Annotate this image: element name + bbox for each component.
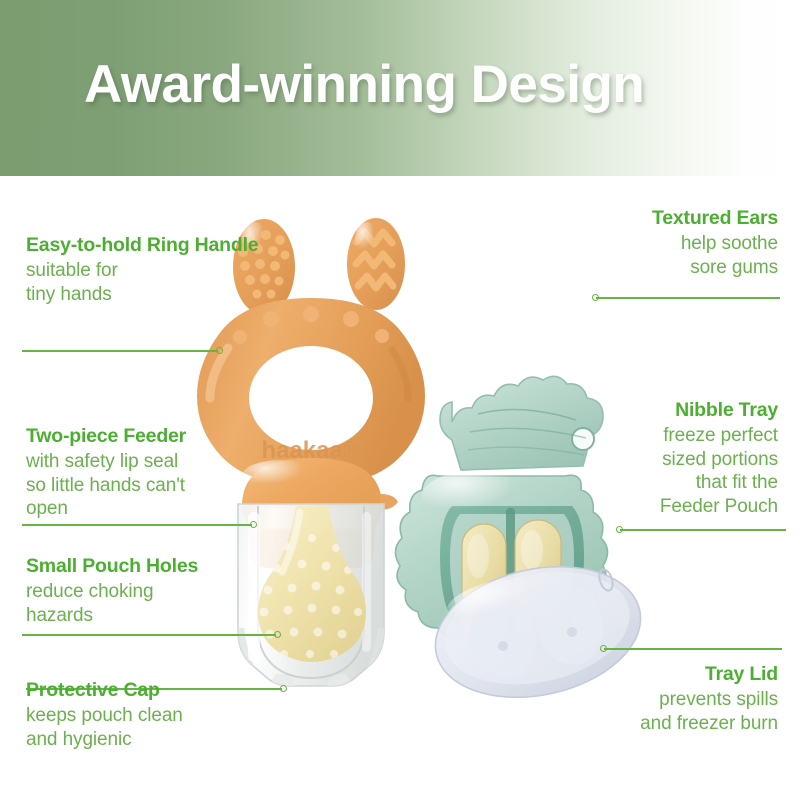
callout-title-nibble-tray: Nibble Tray — [538, 398, 778, 422]
leader-line-pouch-holes — [22, 634, 276, 636]
leader-dot-pouch-holes — [274, 631, 281, 638]
header-banner: Award-winning Design — [0, 0, 800, 176]
callout-title-pouch-holes: Small Pouch Holes — [26, 554, 256, 578]
callout-body-nibble-tray: freeze perfect sized portions that fit t… — [538, 424, 778, 518]
callout-body-tray-lid: prevents spills and freezer burn — [538, 688, 778, 735]
callout-nibble-tray: Nibble Tray freeze perfect sized portion… — [538, 398, 778, 518]
leader-dot-protective-cap — [280, 685, 287, 692]
page-title: Award-winning Design — [84, 54, 644, 115]
callout-two-piece-feeder: Two-piece Feeder with safety lip seal so… — [26, 424, 256, 521]
leader-dot-textured-ears — [592, 294, 599, 301]
callout-protective-cap: Protective Cap keeps pouch clean and hyg… — [26, 678, 256, 751]
callout-title-ring-handle: Easy-to-hold Ring Handle — [26, 233, 241, 257]
callout-textured-ears: Textured Ears help soothe sore gums — [538, 206, 778, 279]
callout-title-two-piece-feeder: Two-piece Feeder — [26, 424, 256, 448]
leader-line-nibble-tray — [620, 529, 786, 531]
callout-body-protective-cap: keeps pouch clean and hygienic — [26, 704, 256, 751]
callout-ring-handle: Easy-to-hold Ring Handle suitable for ti… — [26, 233, 241, 306]
leader-line-two-piece-feeder — [22, 524, 252, 526]
leader-line-tray-lid — [604, 648, 782, 650]
leader-dot-nibble-tray — [616, 526, 623, 533]
callout-pouch-holes: Small Pouch Holes reduce choking hazards — [26, 554, 256, 627]
leader-line-textured-ears — [596, 297, 780, 299]
leader-dot-ring-handle — [216, 347, 223, 354]
callout-body-two-piece-feeder: with safety lip seal so little hands can… — [26, 450, 256, 521]
callout-title-tray-lid: Tray Lid — [538, 662, 778, 686]
leader-dot-two-piece-feeder — [250, 521, 257, 528]
callout-title-textured-ears: Textured Ears — [538, 206, 778, 230]
callout-tray-lid: Tray Lid prevents spills and freezer bur… — [538, 662, 778, 735]
leader-dot-tray-lid — [600, 645, 607, 652]
callout-title-protective-cap: Protective Cap — [26, 678, 256, 702]
ear-right-zigzag — [347, 218, 405, 310]
leader-line-ring-handle — [22, 350, 218, 352]
callout-body-pouch-holes: reduce choking hazards — [26, 580, 256, 627]
callout-body-ring-handle: suitable for tiny hands — [26, 259, 241, 306]
callout-body-textured-ears: help soothe sore gums — [538, 232, 778, 279]
svg-text:®: ® — [373, 438, 381, 449]
